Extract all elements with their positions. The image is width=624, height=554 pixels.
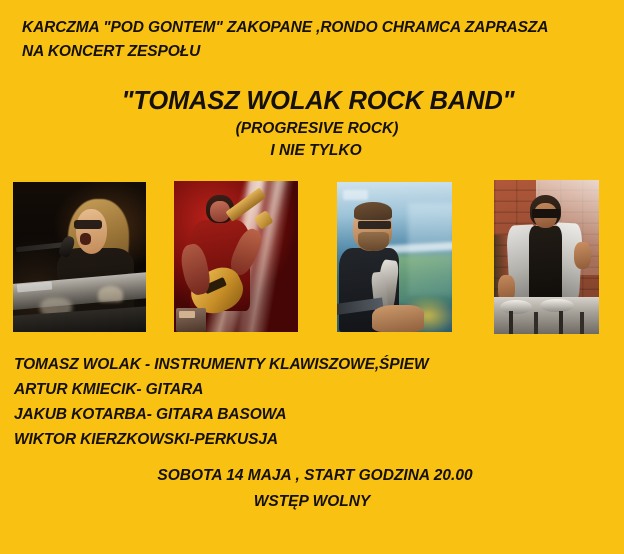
photo-keyboardist: [13, 182, 146, 332]
event-admission: WSTĘP WOLNY: [0, 489, 624, 515]
drum-hardware-2-shape: [534, 312, 538, 334]
drum-hardware-1-shape: [509, 311, 513, 334]
drum-rim-1-shape: [500, 300, 532, 314]
drum-hardware-4-shape: [580, 312, 584, 334]
stage-light-shape: [98, 286, 123, 303]
event-date-time: SOBOTA 14 MAJA , START GODZINA 20.00: [0, 462, 624, 489]
band-name: "TOMASZ WOLAK ROCK BAND": [0, 86, 624, 117]
band-genre: (PROGRESIVE ROCK): [0, 117, 624, 140]
glasses-shape: [74, 220, 102, 229]
photo-saxophonist: [337, 182, 452, 332]
pedal-shape: [179, 311, 195, 319]
lineup-item: JAKUB KOTARBA- GITARA BASOWA: [14, 402, 614, 427]
venue-header: KARCZMA "POD GONTEM" ZAKOPANE ,RONDO CHR…: [22, 16, 612, 64]
sunglasses-shape: [532, 209, 560, 218]
band-subtitle: I NIE TYLKO: [0, 140, 624, 162]
mouth-shape: [80, 233, 92, 245]
lineup-item: ARTUR KMIECIK- GITARA: [14, 377, 614, 402]
arm-shape: [372, 305, 425, 332]
glasses-shape: [358, 221, 391, 229]
background-logo-shape: [343, 190, 368, 201]
beard-shape: [358, 232, 389, 252]
venue-line-1: KARCZMA "POD GONTEM" ZAKOPANE ,RONDO CHR…: [22, 16, 612, 40]
photo-guitarist: [174, 181, 298, 332]
event-details: SOBOTA 14 MAJA , START GODZINA 20.00 WST…: [0, 462, 624, 515]
hair-shape: [354, 202, 392, 220]
drum-hardware-3-shape: [559, 311, 563, 334]
lineup-item: TOMASZ WOLAK - INSTRUMENTY KLAWISZOWE,ŚP…: [14, 352, 614, 377]
photo-drummer: [494, 180, 599, 334]
headline-block: "TOMASZ WOLAK ROCK BAND" (PROGRESIVE ROC…: [0, 86, 624, 162]
right-hand-shape: [574, 242, 591, 270]
venue-line-2: NA KONCERT ZESPOŁU: [22, 40, 612, 64]
lineup-item: WIKTOR KIERZKOWSKI-PERKUSJA: [14, 427, 614, 452]
face-shape: [76, 209, 108, 254]
shirt-shape: [529, 226, 563, 300]
concert-poster: KARCZMA "POD GONTEM" ZAKOPANE ,RONDO CHR…: [0, 0, 624, 554]
lineup-list: TOMASZ WOLAK - INSTRUMENTY KLAWISZOWE,ŚP…: [14, 352, 614, 452]
drum-rim-2-shape: [540, 299, 574, 313]
